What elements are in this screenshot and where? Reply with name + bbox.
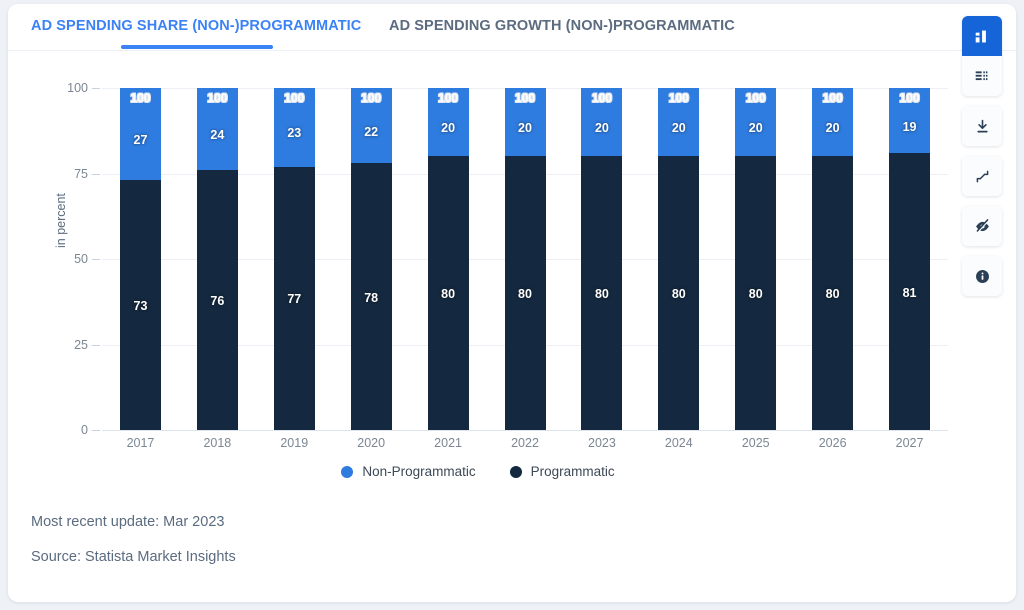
bar-column[interactable]: 8020100 xyxy=(428,88,469,430)
y-axis-tick-mark xyxy=(92,345,100,346)
download-button-wrap xyxy=(962,106,1002,146)
bar-value-non-programmatic: 20 xyxy=(735,121,776,135)
x-axis-tick-label: 2025 xyxy=(716,436,796,450)
tab-ad-spending-growth[interactable]: AD SPENDING GROWTH (NON-)PROGRAMMATIC xyxy=(389,18,735,34)
x-axis-tick-label: 2022 xyxy=(485,436,565,450)
x-axis-tick-label: 2017 xyxy=(100,436,180,450)
bar-total-label: 100 xyxy=(505,91,546,105)
active-tab-underline xyxy=(121,45,273,49)
bar-total-label: 100 xyxy=(812,91,853,105)
bar-value-non-programmatic: 20 xyxy=(658,121,699,135)
x-axis-tick-label: 2023 xyxy=(562,436,642,450)
bar-total-label: 100 xyxy=(428,91,469,105)
bar-total-label: 100 xyxy=(351,91,392,105)
info-button-wrap xyxy=(962,256,1002,296)
legend-label: Non-Programmatic xyxy=(362,464,475,479)
bar-total-label: 100 xyxy=(120,91,161,105)
bar-value-programmatic: 80 xyxy=(581,287,622,301)
last-update-text: Most recent update: Mar 2023 xyxy=(31,514,236,530)
gridline xyxy=(102,430,948,431)
view-toggle-group xyxy=(962,16,1002,96)
bar-value-programmatic: 73 xyxy=(120,299,161,313)
x-axis-tick-label: 2026 xyxy=(793,436,873,450)
bar-value-non-programmatic: 20 xyxy=(428,121,469,135)
chart-toolbar xyxy=(962,16,1002,306)
legend-label: Programmatic xyxy=(531,464,615,479)
y-axis-tick-label: 0 xyxy=(28,423,88,437)
x-axis-tick-label: 2027 xyxy=(870,436,950,450)
bar-value-programmatic: 81 xyxy=(889,286,930,300)
bar-total-label: 100 xyxy=(658,91,699,105)
bar-value-programmatic: 76 xyxy=(197,294,238,308)
bar-column[interactable]: 8020100 xyxy=(812,88,853,430)
hide-button-wrap xyxy=(962,206,1002,246)
bar-value-non-programmatic: 20 xyxy=(581,121,622,135)
y-axis-tick-label: 25 xyxy=(28,338,88,352)
bar-value-programmatic: 80 xyxy=(428,287,469,301)
bar-value-non-programmatic: 24 xyxy=(197,128,238,142)
y-axis-tick-label: 75 xyxy=(28,167,88,181)
chart-card: AD SPENDING SHARE (NON-)PROGRAMMATIC AD … xyxy=(8,4,1016,602)
bar-total-label: 100 xyxy=(735,91,776,105)
bar-column[interactable]: 8020100 xyxy=(581,88,622,430)
info-icon[interactable] xyxy=(962,256,1002,296)
bar-value-non-programmatic: 27 xyxy=(120,133,161,147)
plot-area: 0255075100732710020177624100201877231002… xyxy=(102,88,948,430)
bar-total-label: 100 xyxy=(889,91,930,105)
y-axis-tick-mark xyxy=(92,430,100,431)
bar-value-programmatic: 78 xyxy=(351,291,392,305)
bar-value-programmatic: 80 xyxy=(505,287,546,301)
bar-column[interactable]: 8020100 xyxy=(505,88,546,430)
download-icon[interactable] xyxy=(962,106,1002,146)
bar-value-non-programmatic: 20 xyxy=(812,121,853,135)
y-axis-label: in percent xyxy=(54,193,68,248)
x-axis-tick-label: 2019 xyxy=(254,436,334,450)
legend-item[interactable]: Programmatic xyxy=(510,464,615,479)
legend-item[interactable]: Non-Programmatic xyxy=(341,464,475,479)
bar-column[interactable]: 8020100 xyxy=(735,88,776,430)
bar-value-programmatic: 77 xyxy=(274,292,315,306)
y-axis-tick-label: 50 xyxy=(28,252,88,266)
y-axis-tick-mark xyxy=(92,174,100,175)
y-axis-tick-label: 100 xyxy=(28,81,88,95)
legend-color-swatch xyxy=(341,466,353,478)
chart-legend: Non-ProgrammaticProgrammatic xyxy=(8,464,948,479)
bar-column[interactable]: 7822100 xyxy=(351,88,392,430)
chart-footer: Most recent update: Mar 2023 Source: Sta… xyxy=(31,514,236,584)
bar-value-non-programmatic: 22 xyxy=(351,125,392,139)
tab-ad-spending-share[interactable]: AD SPENDING SHARE (NON-)PROGRAMMATIC xyxy=(31,18,361,34)
expand-icon[interactable] xyxy=(962,156,1002,196)
bar-column[interactable]: 7327100 xyxy=(120,88,161,430)
bar-total-label: 100 xyxy=(197,91,238,105)
bar-column[interactable]: 8020100 xyxy=(658,88,699,430)
table-view-icon[interactable] xyxy=(962,56,1002,96)
source-text: Source: Statista Market Insights xyxy=(31,549,236,565)
legend-color-swatch xyxy=(510,466,522,478)
bar-column[interactable]: 8119100 xyxy=(889,88,930,430)
bar-value-programmatic: 80 xyxy=(658,287,699,301)
bar-column[interactable]: 7723100 xyxy=(274,88,315,430)
bar-value-non-programmatic: 23 xyxy=(274,126,315,140)
bar-total-label: 100 xyxy=(581,91,622,105)
bar-value-programmatic: 80 xyxy=(735,287,776,301)
tab-bar: AD SPENDING SHARE (NON-)PROGRAMMATIC AD … xyxy=(8,4,1016,51)
y-axis-tick-mark xyxy=(92,88,100,89)
y-axis-tick-mark xyxy=(92,259,100,260)
bar-column[interactable]: 7624100 xyxy=(197,88,238,430)
bar-value-programmatic: 80 xyxy=(812,287,853,301)
bar-total-label: 100 xyxy=(274,91,315,105)
x-axis-tick-label: 2024 xyxy=(639,436,719,450)
x-axis-tick-label: 2020 xyxy=(331,436,411,450)
chart-view-icon[interactable] xyxy=(962,16,1002,56)
x-axis-tick-label: 2021 xyxy=(408,436,488,450)
bar-value-non-programmatic: 19 xyxy=(889,120,930,134)
chart-region: in percent 02550751007327100201776241002… xyxy=(8,50,1016,500)
bar-value-non-programmatic: 20 xyxy=(505,121,546,135)
expand-button-wrap xyxy=(962,156,1002,196)
eye-slash-icon[interactable] xyxy=(962,206,1002,246)
statista-chart-page: AD SPENDING SHARE (NON-)PROGRAMMATIC AD … xyxy=(0,0,1024,610)
x-axis-tick-label: 2018 xyxy=(177,436,257,450)
